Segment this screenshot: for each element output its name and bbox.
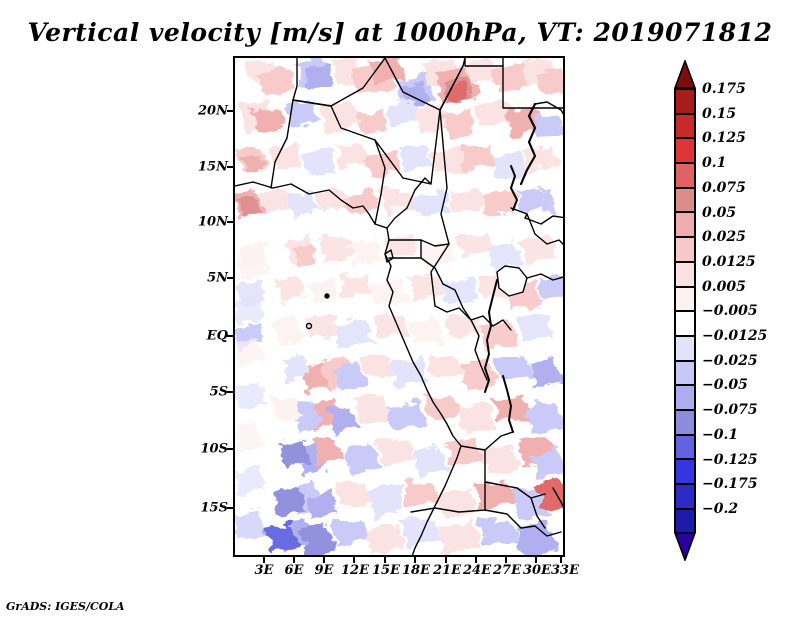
colorbar-label-8: 0.005 [702, 279, 746, 295]
colorbar-segment[interactable] [676, 485, 694, 510]
colorbar-segment[interactable] [676, 337, 694, 362]
ytick-mark-15N [227, 166, 233, 168]
colorbar-segment[interactable] [676, 238, 694, 263]
colorbar-label-10: −0.0125 [702, 328, 767, 344]
colorbar-label-2: 0.125 [702, 130, 746, 146]
colorbar-segment[interactable] [676, 263, 694, 288]
ytick-mark-5N [227, 277, 233, 279]
colorbar-segment[interactable] [676, 288, 694, 313]
colorbar-label-6: 0.025 [702, 229, 746, 245]
vertical-velocity-field [235, 58, 563, 555]
colorbar-segment[interactable] [676, 139, 694, 164]
xtick-label-30E: 30E [523, 563, 551, 578]
page-title: Vertical velocity [m/s] at 1000hPa, VT: … [0, 18, 800, 47]
ytick-label-5S: 5S [190, 385, 228, 400]
colorbar-segment[interactable] [676, 460, 694, 485]
colorbar-label-1: 0.15 [702, 106, 736, 122]
colorbar[interactable]: 0.175 0.15 0.125 0.1 0.075 0.05 0.025 0.… [674, 60, 696, 560]
colorbar-segment[interactable] [676, 213, 694, 238]
map-plot-area[interactable] [233, 56, 565, 557]
xtick-label-6E: 6E [285, 563, 304, 578]
xtick-label-18E: 18E [402, 563, 430, 578]
ytick-label-15S: 15S [190, 501, 228, 516]
colorbar-max-arrow [674, 60, 696, 89]
colorbar-label-17: −0.2 [702, 501, 738, 517]
xtick-label-15E: 15E [372, 563, 400, 578]
colorbar-segment[interactable] [676, 386, 694, 411]
field-raster [235, 58, 565, 557]
xtick-label-24E: 24E [463, 563, 491, 578]
colorbar-label-15: −0.125 [702, 452, 758, 468]
ytick-label-20N: 20N [190, 104, 228, 119]
colorbar-label-9: −0.005 [702, 303, 758, 319]
colorbar-segment[interactable] [676, 189, 694, 214]
ytick-mark-20N [227, 110, 233, 112]
colorbar-label-0: 0.175 [702, 81, 746, 97]
colorbar-segments[interactable] [674, 88, 696, 533]
ytick-label-5N: 5N [190, 271, 228, 286]
colorbar-label-7: 0.0125 [702, 254, 756, 270]
xtick-label-12E: 12E [341, 563, 369, 578]
colorbar-segment[interactable] [676, 90, 694, 115]
ytick-label-EQ: EQ [190, 329, 228, 344]
colorbar-segment[interactable] [676, 115, 694, 140]
ytick-mark-10S [227, 448, 233, 450]
grads-attribution: GrADS: IGES/COLA [6, 600, 125, 613]
xtick-label-27E: 27E [493, 563, 521, 578]
ytick-mark-5S [227, 391, 233, 393]
colorbar-segment[interactable] [676, 510, 694, 535]
colorbar-segment[interactable] [676, 411, 694, 436]
colorbar-label-4: 0.075 [702, 180, 746, 196]
colorbar-label-12: −0.05 [702, 377, 748, 393]
ytick-mark-EQ [227, 335, 233, 337]
xtick-label-9E: 9E [315, 563, 334, 578]
colorbar-segment[interactable] [676, 362, 694, 387]
ytick-label-10N: 10N [190, 215, 228, 230]
colorbar-label-3: 0.1 [702, 155, 726, 171]
ytick-label-15N: 15N [190, 160, 228, 175]
colorbar-label-16: −0.175 [702, 476, 758, 492]
ytick-mark-15S [227, 507, 233, 509]
colorbar-label-14: −0.1 [702, 427, 738, 443]
xtick-label-21E: 21E [433, 563, 461, 578]
colorbar-label-11: −0.025 [702, 353, 758, 369]
colorbar-label-13: −0.075 [702, 402, 758, 418]
colorbar-segment[interactable] [676, 164, 694, 189]
colorbar-segment[interactable] [676, 436, 694, 461]
ytick-mark-10N [227, 221, 233, 223]
ytick-label-10S: 10S [190, 442, 228, 457]
xtick-label-3E: 3E [255, 563, 274, 578]
colorbar-label-5: 0.05 [702, 205, 736, 221]
xtick-label-33E: 33E [551, 563, 579, 578]
colorbar-segment[interactable] [676, 312, 694, 337]
colorbar-min-arrow [674, 532, 696, 561]
